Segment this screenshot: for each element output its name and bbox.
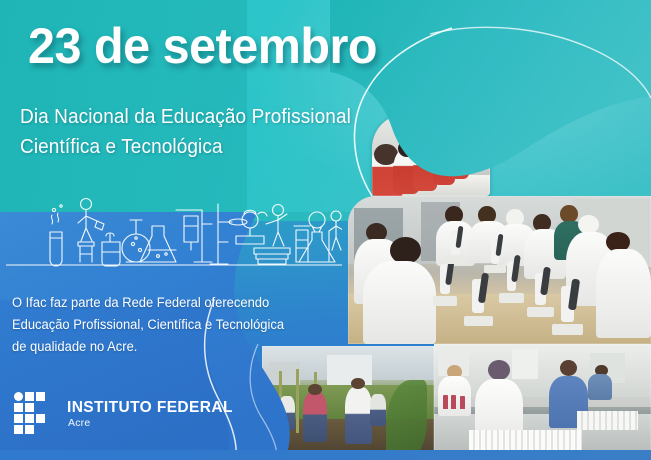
bottom-strip [0,450,651,460]
page-title: 23 de setembro [28,21,377,71]
subtitle-line-2: Científica e Tecnológica [20,133,351,163]
body-text: O Ifac faz parte da Rede Federal oferece… [12,292,284,358]
logo-subtitle: Acre [68,418,233,429]
if-grid-mark-icon [14,392,58,436]
body-line-3: de qualidade no Acre. [12,336,284,358]
wave-teal-top [330,0,651,176]
poster-canvas: 23 de setembro Dia Nacional da Educação … [0,0,651,460]
body-line-2: Educação Profissional, Científica e Tecn… [12,314,284,336]
subtitle-line-1: Dia Nacional da Educação Profissional [20,103,351,133]
body-line-1: O Ifac faz parte da Rede Federal oferece… [12,292,284,314]
logo-title: INSTITUTO FEDERAL [67,400,233,416]
subtitle: Dia Nacional da Educação Profissional Ci… [20,103,351,162]
instituto-federal-logo: INSTITUTO FEDERAL Acre [14,392,233,436]
laboratory-line-art [6,186,342,282]
